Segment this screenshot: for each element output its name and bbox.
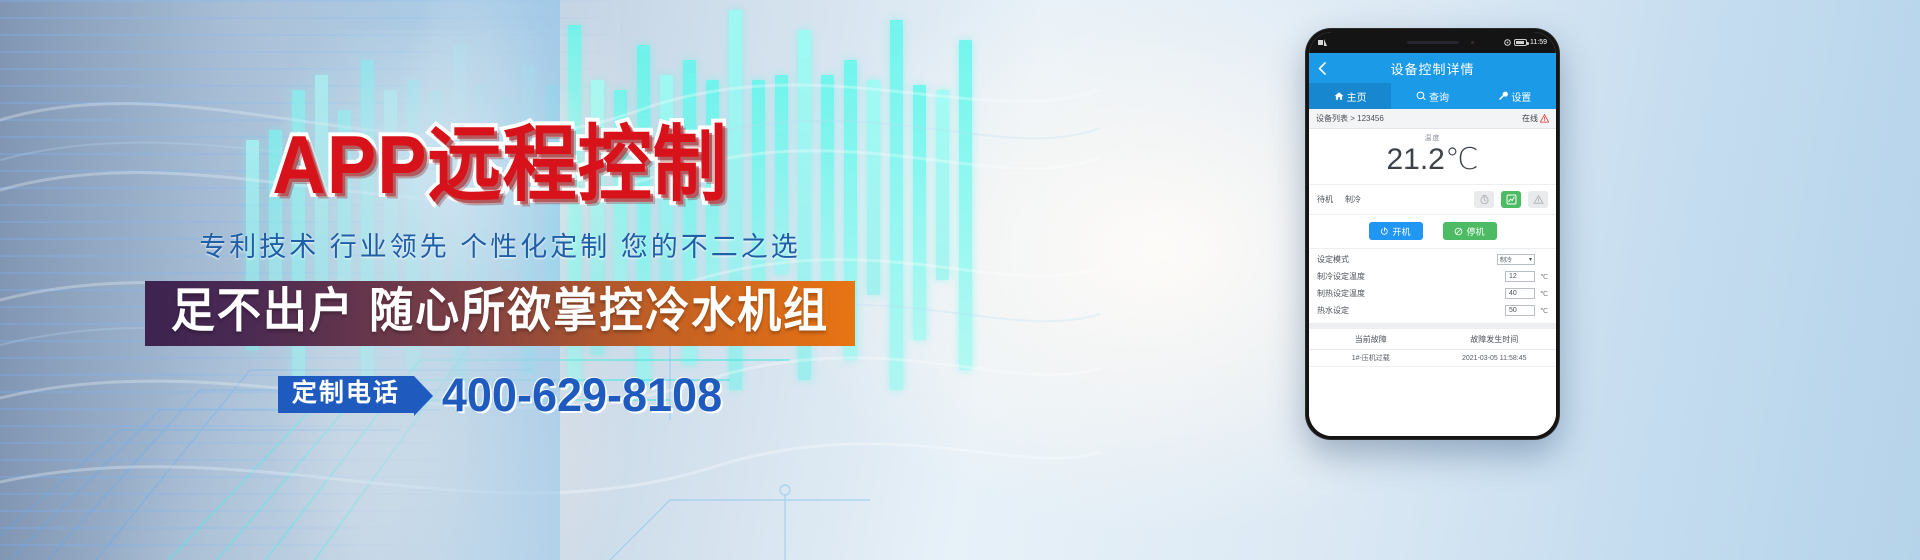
fault-cell-time: 2021-03-05 11:58:45 xyxy=(1433,355,1557,362)
setting-label-cool-temp: 制冷设定温度 xyxy=(1317,271,1505,282)
action-button-row: 开机 停机 xyxy=(1309,215,1556,249)
fault-col-current: 当前故障 xyxy=(1309,334,1433,345)
hotwater-input[interactable]: 50 xyxy=(1505,305,1535,316)
temperature-label: 温度 xyxy=(1309,133,1556,143)
phone-mockup: 11:59 设备控制详情 主页 查询 xyxy=(1305,28,1560,440)
marketing-copy: APP远程控制 专利技术 行业领先 个性化定制 您的不二之选 足不出户 随心所欲… xyxy=(0,0,1000,560)
earpiece-speaker xyxy=(1407,41,1459,44)
timer-icon xyxy=(1479,194,1490,205)
app-tab-bar: 主页 查询 设置 xyxy=(1309,83,1556,109)
phone-screen: 11:59 设备控制详情 主页 查询 xyxy=(1309,32,1556,436)
heat-temp-input[interactable]: 40 xyxy=(1505,288,1535,299)
fault-cell-name: 1#-压机过载 xyxy=(1309,353,1433,363)
mode-row: 待机 制冷 xyxy=(1309,185,1556,215)
sub-headline: 专利技术 行业领先 个性化定制 您的不二之选 xyxy=(199,234,801,261)
status-left-icons xyxy=(1318,39,1327,46)
front-camera-icon xyxy=(1471,41,1474,44)
breadcrumb-row: 设备列表 > 123456 在线 xyxy=(1309,109,1556,129)
power-icon xyxy=(1380,227,1389,236)
setting-unit-cool-temp: ℃ xyxy=(1535,273,1548,281)
ribbon-text: 足不出户 随心所欲掌控冷水机组 xyxy=(171,288,829,336)
tab-home[interactable]: 主页 xyxy=(1309,83,1391,109)
fault-table: 当前故障 故障发生时间 1#-压机过载 2021-03-05 11:58:45 xyxy=(1309,329,1556,436)
settings-list: 设定模式 制冷 ▾ 制冷设定温度 12 ℃ 制热设定温度 40 ℃ xyxy=(1309,249,1556,323)
page-title: APP远程控制 xyxy=(272,124,727,207)
power-on-button[interactable]: 开机 xyxy=(1369,222,1423,240)
setting-row-mode: 设定模式 制冷 ▾ xyxy=(1317,251,1548,268)
stop-icon xyxy=(1454,227,1463,236)
setting-label-mode: 设定模式 xyxy=(1317,254,1497,265)
tab-settings-label: 设置 xyxy=(1511,89,1531,104)
temperature-panel: 温度 21.2℃ xyxy=(1309,129,1556,185)
tab-home-label: 主页 xyxy=(1347,89,1367,104)
battery-icon xyxy=(1514,39,1527,46)
status-clock: 11:59 xyxy=(1530,39,1547,46)
mode-standby-label: 待机 xyxy=(1317,194,1333,205)
app-header-bar: 设备控制详情 xyxy=(1309,53,1556,83)
mode-cooling-label: 制冷 xyxy=(1345,194,1361,205)
home-icon xyxy=(1334,91,1344,101)
temperature-value: 21.2℃ xyxy=(1309,143,1556,176)
phone-status-bar: 11:59 xyxy=(1309,32,1556,53)
chevron-down-icon: ▾ xyxy=(1529,256,1532,263)
mode-select-value: 制冷 xyxy=(1500,255,1512,264)
setting-row-heat-temp: 制热设定温度 40 ℃ xyxy=(1317,285,1548,302)
app-title: 设备控制详情 xyxy=(1309,59,1556,78)
tab-settings[interactable]: 设置 xyxy=(1474,83,1556,109)
wrench-icon xyxy=(1498,91,1508,101)
chart-icon xyxy=(1506,194,1517,205)
timer-icon-button[interactable] xyxy=(1474,191,1494,208)
setting-unit-heat-temp: ℃ xyxy=(1535,290,1548,298)
highlight-ribbon: 足不出户 随心所欲掌控冷水机组 xyxy=(145,281,855,346)
location-icon xyxy=(1504,39,1511,46)
back-button[interactable] xyxy=(1309,53,1335,83)
fault-col-time: 故障发生时间 xyxy=(1433,334,1557,345)
setting-unit-hotwater: ℃ xyxy=(1535,307,1548,315)
setting-label-heat-temp: 制热设定温度 xyxy=(1317,288,1505,299)
tab-query[interactable]: 查询 xyxy=(1391,83,1473,109)
power-on-label: 开机 xyxy=(1392,225,1410,238)
tab-query-label: 查询 xyxy=(1429,89,1449,104)
fault-table-header: 当前故障 故障发生时间 xyxy=(1309,329,1556,350)
alarm-icon-button[interactable] xyxy=(1528,191,1548,208)
setting-label-hotwater: 热水设定 xyxy=(1317,305,1505,316)
cool-temp-input[interactable]: 12 xyxy=(1505,271,1535,282)
contact-line: 定制电话 400-629-8108 xyxy=(278,372,722,417)
status-badge-label: 在线 xyxy=(1522,113,1538,124)
tel-number[interactable]: 400-629-8108 xyxy=(442,371,722,419)
status-right-icons: 11:59 xyxy=(1504,39,1547,46)
mode-select[interactable]: 制冷 ▾ xyxy=(1497,254,1535,265)
power-off-label: 停机 xyxy=(1466,225,1484,238)
power-off-button[interactable]: 停机 xyxy=(1443,222,1497,240)
warning-triangle-icon xyxy=(1540,114,1549,123)
breadcrumb[interactable]: 设备列表 > 123456 xyxy=(1316,113,1384,124)
chevron-left-icon xyxy=(1318,62,1326,75)
mode-icon-group xyxy=(1474,191,1548,208)
search-icon xyxy=(1416,91,1426,101)
tel-tag-label: 定制电话 xyxy=(278,376,414,413)
table-row[interactable]: 1#-压机过载 2021-03-05 11:58:45 xyxy=(1309,350,1556,367)
setting-row-hotwater: 热水设定 50 ℃ xyxy=(1317,302,1548,319)
chart-icon-button[interactable] xyxy=(1501,191,1521,208)
status-badge: 在线 xyxy=(1522,113,1549,124)
alarm-triangle-icon xyxy=(1533,194,1544,205)
banner-stage: APP远程控制 专利技术 行业领先 个性化定制 您的不二之选 足不出户 随心所欲… xyxy=(0,0,1920,560)
sim-card-icon xyxy=(1318,39,1327,46)
setting-row-cool-temp: 制冷设定温度 12 ℃ xyxy=(1317,268,1548,285)
